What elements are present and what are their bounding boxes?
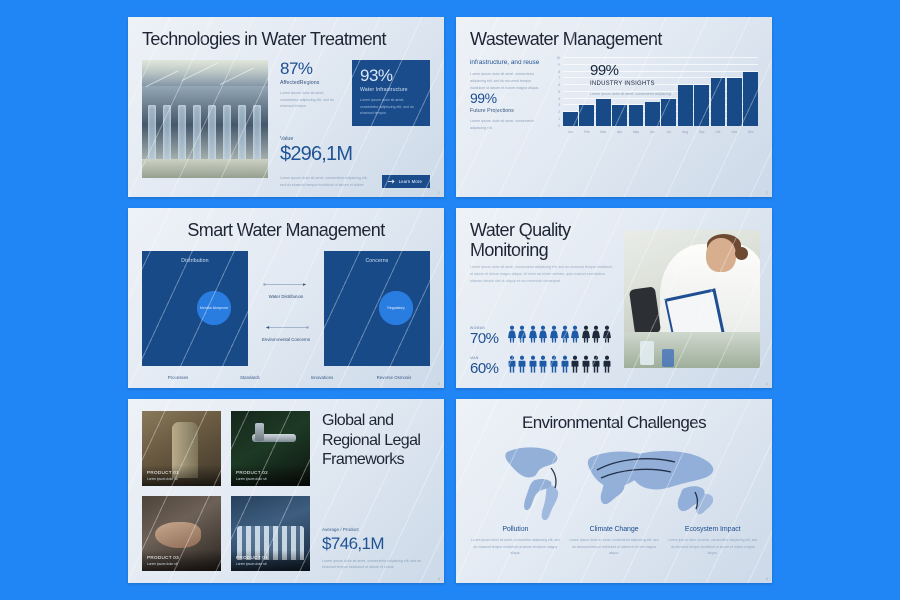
chart-x-tick: Dec: [743, 127, 758, 140]
chart-note-value: 99%: [590, 62, 672, 79]
product-04-name: PRODUCT 04: [236, 555, 305, 560]
slide2-kicker-body: Lorem ipsum dolor sit amet, consectetur …: [470, 71, 542, 91]
chart-bar[interactable]: [694, 85, 709, 125]
slide2-kicker: infrastructure, and reuse: [470, 58, 542, 67]
footer-label-innovations: Innovations: [286, 375, 358, 380]
chart-x-tick: Jan: [563, 127, 578, 140]
female-icon: [582, 325, 590, 348]
slide2-stat-block: 99% Future Projections Lorem ipsum dolor…: [470, 91, 542, 131]
product-card-01[interactable]: PRODUCT 01 Lorem ipsum dolor sit: [142, 411, 221, 486]
stat-affected-regions-body: Lorem ipsum dolor sit amet, consectetur …: [280, 90, 342, 110]
stat-affected-regions-value: 87%: [280, 60, 342, 77]
female-icon: [571, 325, 579, 348]
product-02-name: PRODUCT 02: [236, 470, 305, 475]
arrow-right-icon: [263, 282, 309, 287]
chart-x-tick: May: [629, 127, 644, 140]
chart-x-tick: Aug: [678, 127, 693, 140]
male-icon: [582, 355, 590, 378]
pictogram-woman-value: 70%: [470, 330, 499, 347]
slide2-kicker-block: infrastructure, and reuse Lorem ipsum do…: [470, 58, 542, 91]
product-grid: PRODUCT 01 Lorem ipsum dolor sit PRODUCT…: [142, 411, 310, 571]
venn-left-circles: IoT Sensors Monitor &Improve: [149, 266, 241, 328]
slide6-page-mark: 6: [766, 576, 768, 581]
slide2-stat-body: Lorem ipsum dolor sit amet, consectetur …: [470, 118, 542, 131]
slide4-title: Water Quality Monitoring: [470, 220, 614, 260]
chart-y-tick: 5: [558, 90, 560, 94]
arrow-right-icon: [388, 179, 395, 184]
challenge-ecosystem-impact-title: Ecosystem Impact: [667, 526, 758, 533]
slide2-stat-value: 99%: [470, 91, 542, 105]
male-icon: [529, 355, 537, 378]
slide2-page-mark: 2: [766, 190, 768, 195]
chart-x-tick: Jul: [661, 127, 676, 140]
chart-bar[interactable]: [645, 102, 660, 126]
chart-y-tick: 8: [558, 70, 560, 74]
value-amount: $296,1M: [280, 143, 430, 166]
arrow-environmental-concerns-label: Environmental Concerns: [257, 337, 315, 343]
slide4-page-mark: 4: [766, 381, 768, 386]
venn-node-regulatory[interactable]: Regulatory: [379, 291, 413, 325]
slide2-stat-label: Future Projections: [470, 108, 542, 114]
lab-scientist-photo: [624, 230, 760, 368]
industry-insights-bar-chart[interactable]: 99% INDUSTRY INSIGHTS Lorem ipsum dolor …: [552, 58, 758, 139]
product-03-name: PRODUCT 03: [147, 555, 216, 560]
venn-node-monitor-improve[interactable]: Monitor &Improve: [197, 291, 231, 325]
pictogram-man-icons: [508, 355, 611, 378]
pictogram-row-man: MAN 60%: [470, 355, 614, 378]
chart-gridline: [563, 57, 758, 58]
chart-x-tick: Mar: [596, 127, 611, 140]
male-icon: [508, 355, 516, 378]
footer-label-reverse-osmosis: Reverse Osmosis: [358, 375, 430, 380]
venn-right-circles: Parameters Industry Regulatory: [331, 266, 423, 328]
slide-smart-water-management[interactable]: Smart Water Management Distribution IoT …: [128, 208, 444, 388]
footer-label-standards: Standards: [214, 375, 286, 380]
chart-x-tick: Feb: [579, 127, 594, 140]
slide-global-regional-legal-frameworks[interactable]: PRODUCT 01 Lorem ipsum dolor sit PRODUCT…: [128, 399, 444, 583]
chart-y-tick: 9: [558, 63, 560, 67]
slide5-page-mark: 5: [438, 576, 440, 581]
slide1-footer-body: Lorem ipsum dolor sit amet, consectetur …: [280, 175, 374, 188]
chart-bar[interactable]: [678, 85, 693, 125]
slide5-title: Global and Regional Legal Frameworks: [322, 411, 430, 470]
learn-more-button[interactable]: Learn More: [382, 175, 430, 188]
average-body: Lorem ipsum dolor sit amet, consectetur …: [322, 558, 430, 571]
venn-group-distribution[interactable]: Distribution IoT Sensors Monitor &Improv…: [142, 251, 248, 366]
chart-bar[interactable]: [612, 105, 627, 125]
stat-affected-regions: 87% AffectedRegions Lorem ipsum dolor si…: [280, 60, 342, 126]
challenge-ecosystem-impact-body: Lorem ipsum dolor sit amet, consectetur …: [667, 537, 758, 556]
learn-more-label: Learn More: [399, 179, 422, 184]
chart-x-tick: Apr: [612, 127, 627, 140]
stat-affected-regions-label: AffectedRegions: [280, 80, 342, 86]
world-map-graphic: [489, 440, 739, 520]
venn-right-title: Concerns: [324, 258, 430, 264]
challenge-pollution[interactable]: Pollution Lorem ipsum dolor sit amet, co…: [470, 526, 561, 556]
chart-bar[interactable]: [563, 112, 578, 125]
chart-bar[interactable]: [661, 99, 676, 126]
stat-water-infrastructure-label: Water Infrastructure: [360, 87, 422, 93]
product-card-02[interactable]: PRODUCT 02 Lorem ipsum dolor sit: [231, 411, 310, 486]
female-icon: [561, 325, 569, 348]
chart-x-tick: Nov: [727, 127, 742, 140]
average-caption: Average / Product: [322, 527, 430, 532]
pictogram-woman-icons: [508, 325, 611, 348]
world-map-svg: [489, 440, 739, 520]
slide3-page-mark: 3: [438, 381, 440, 386]
slide-deck: Technologies in Water Treatment 87% Affe…: [0, 0, 900, 600]
challenge-pollution-title: Pollution: [470, 526, 561, 533]
slide-technologies-in-water-treatment[interactable]: Technologies in Water Treatment 87% Affe…: [128, 17, 444, 197]
male-icon: [571, 355, 579, 378]
arrow-water-distribution: Water Distribution: [257, 274, 315, 300]
product-card-03[interactable]: PRODUCT 03 Lorem ipsum dolor sit: [142, 496, 221, 571]
chart-x-axis: JanFebMarAprMayJunJulAugSepOctNovDec: [563, 127, 758, 140]
product-card-04[interactable]: PRODUCT 04 Lorem ipsum dolor sit: [231, 496, 310, 571]
arrow-water-distribution-label: Water Distribution: [257, 294, 315, 300]
challenge-columns: Pollution Lorem ipsum dolor sit amet, co…: [470, 526, 758, 556]
male-icon: [518, 355, 526, 378]
product-01-name: PRODUCT 01: [147, 470, 216, 475]
stat-water-infrastructure-card[interactable]: 93% Water Infrastructure Lorem ipsum dol…: [352, 60, 430, 126]
footer-label-processes: Processes: [142, 375, 214, 380]
slide-water-quality-monitoring[interactable]: Water Quality Monitoring Lorem ipsum dol…: [456, 208, 772, 388]
slide2-sidebar: infrastructure, and reuse Lorem ipsum do…: [470, 58, 542, 139]
arrow-environmental-concerns: Environmental Concerns: [257, 317, 315, 343]
slide-wastewater-management[interactable]: Wastewater Management infrastructure, an…: [456, 17, 772, 197]
slide1-content: 87% AffectedRegions Lorem ipsum dolor si…: [142, 60, 430, 188]
male-icon: [561, 355, 569, 378]
chart-bar[interactable]: [711, 78, 726, 125]
pictogram-woman-value-block: WOMAN 70%: [470, 326, 499, 347]
slide2-title: Wastewater Management: [470, 29, 758, 49]
slide1-title: Technologies in Water Treatment: [142, 29, 430, 49]
male-icon: [550, 355, 558, 378]
chart-y-tick: 6: [558, 83, 560, 87]
pictogram-man-value-block: MAN 60%: [470, 356, 499, 377]
average-per-product-block: Average / Product $746,1M Lorem ipsum do…: [322, 527, 430, 571]
value-caption: Value: [280, 136, 430, 142]
female-icon: [508, 325, 516, 348]
challenge-climate-change-body: Lorem ipsum dolor sit amet, consectetur …: [569, 537, 660, 556]
slide2-content: infrastructure, and reuse Lorem ipsum do…: [470, 58, 758, 139]
female-icon: [592, 325, 600, 348]
male-icon: [603, 355, 611, 378]
slide3-title: Smart Water Management: [142, 220, 430, 240]
chart-y-axis: 012345678910: [552, 58, 562, 125]
stat-water-infrastructure-value: 93%: [360, 67, 422, 84]
slide1-page-mark: 1: [438, 190, 440, 195]
slide3-footer-labels: Processes Standards Innovations Reverse …: [142, 375, 430, 380]
water-treatment-photo: [142, 60, 268, 178]
chart-bar[interactable]: [579, 105, 594, 125]
average-value: $746,1M: [322, 534, 430, 554]
product-02-sub: Lorem ipsum dolor sit: [236, 477, 305, 481]
pictogram-row-woman: WOMAN 70%: [470, 325, 614, 348]
chart-x-tick: Sep: [694, 127, 709, 140]
chart-bar[interactable]: [596, 99, 611, 126]
value-block: Value $296,1M: [280, 136, 430, 166]
stat-water-infrastructure-body: Lorem ipsum dolor sit amet, consectetur …: [360, 97, 422, 117]
chart-y-tick: 1: [558, 117, 560, 121]
chart-bar[interactable]: [629, 105, 644, 125]
challenge-climate-change-title: Climate Change: [569, 526, 660, 533]
pictogram-man-value: 60%: [470, 360, 499, 377]
slide3-diagram: Distribution IoT Sensors Monitor &Improv…: [142, 251, 430, 366]
challenge-pollution-body: Lorem ipsum dolor sit amet, consectetur …: [470, 537, 561, 556]
chart-bar[interactable]: [743, 72, 758, 126]
chart-y-tick: 3: [558, 103, 560, 107]
female-icon: [529, 325, 537, 348]
chart-x-tick: Oct: [711, 127, 726, 140]
slide1-footer: Lorem ipsum dolor sit amet, consectetur …: [280, 175, 430, 188]
slide6-title: Environmental Challenges: [522, 413, 706, 432]
product-03-sub: Lorem ipsum dolor sit: [147, 562, 216, 566]
product-04-sub: Lorem ipsum dolor sit: [236, 562, 305, 566]
chart-note-body: Lorem ipsum dolor sit amet, consectetur …: [590, 91, 672, 98]
chart-y-tick: 4: [558, 97, 560, 101]
chart-note-title: INDUSTRY INSIGHTS: [590, 81, 672, 87]
challenge-ecosystem-impact[interactable]: Ecosystem Impact Lorem ipsum dolor sit a…: [667, 526, 758, 556]
chart-y-tick: 7: [558, 76, 560, 80]
arrow-left-icon: [263, 325, 309, 330]
female-icon: [518, 325, 526, 348]
slide4-pictogram-stats: WOMAN 70% MAN 60%: [470, 318, 614, 378]
male-icon: [592, 355, 600, 378]
chart-x-tick: Jun: [645, 127, 660, 140]
slide3-arrows: Water Distribution Environmental Concern…: [254, 251, 318, 366]
female-icon: [539, 325, 547, 348]
slide4-body: Lorem ipsum dolor sit amet, consectetur …: [470, 264, 614, 284]
female-icon: [550, 325, 558, 348]
slide4-left: Water Quality Monitoring Lorem ipsum dol…: [470, 220, 614, 378]
product-01-sub: Lorem ipsum dolor sit: [147, 477, 216, 481]
chart-y-tick: 10: [556, 56, 560, 60]
slide-environmental-challenges[interactable]: Environmental Challenges: [456, 399, 772, 583]
chart-y-tick: 0: [558, 124, 560, 128]
female-icon: [603, 325, 611, 348]
chart-y-tick: 2: [558, 110, 560, 114]
venn-group-concerns[interactable]: Concerns Parameters Industry Regulatory: [324, 251, 430, 366]
chart-note: 99% INDUSTRY INSIGHTS Lorem ipsum dolor …: [590, 62, 672, 98]
challenge-climate-change[interactable]: Climate Change Lorem ipsum dolor sit ame…: [569, 526, 660, 556]
slide5-right: Global and Regional Legal Frameworks Ave…: [322, 411, 430, 571]
chart-bar[interactable]: [727, 78, 742, 125]
venn-left-title: Distribution: [142, 258, 248, 264]
male-icon: [539, 355, 547, 378]
slide1-stats: 87% AffectedRegions Lorem ipsum dolor si…: [280, 60, 430, 188]
